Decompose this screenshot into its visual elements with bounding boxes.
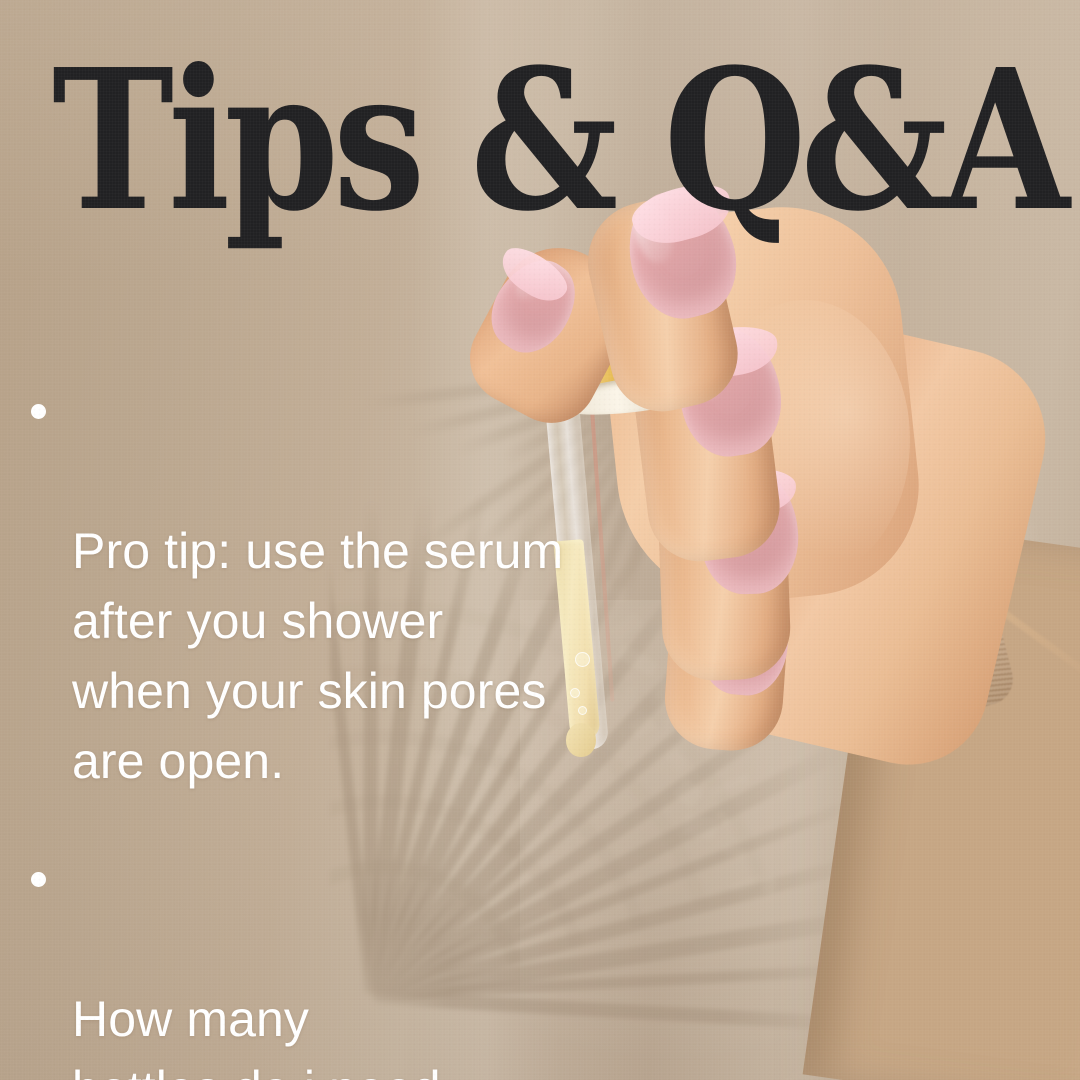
- list-item: How many bottles do i need to achieve pe…: [18, 844, 998, 1080]
- tips-list: Pro tip: use the serum after you shower …: [18, 376, 998, 1080]
- bullet-dot-icon: [31, 872, 46, 887]
- post-canvas: Tips & Q&A Pro tip: use the serum after …: [0, 0, 1080, 1080]
- list-item-text: Pro tip: use the serum after you shower …: [72, 523, 563, 789]
- bullet-dot-icon: [31, 404, 46, 419]
- list-item-text: How many bottles do i need to achieve pe…: [72, 991, 834, 1080]
- list-item: Pro tip: use the serum after you shower …: [18, 376, 998, 796]
- page-title: Tips & Q&A: [52, 44, 1052, 238]
